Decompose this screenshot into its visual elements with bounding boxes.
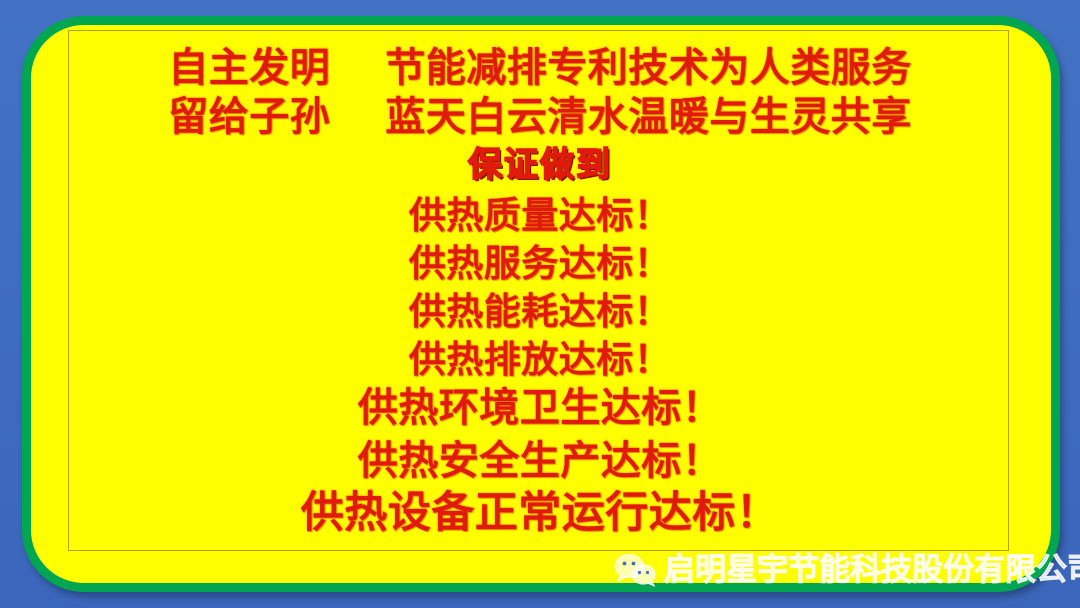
slide-content: 自主发明 节能减排专利技术为人类服务 留给子孙 蓝天白云清水温暖与生灵共享 保证… — [0, 0, 1080, 608]
headline-line-2: 留给子孙 蓝天白云清水温暖与生灵共享 — [0, 97, 1080, 137]
commitment-item-heating-service: 供热服务达标！ — [0, 245, 1080, 282]
headline-line-1: 自主发明 节能减排专利技术为人类服务 — [0, 48, 1080, 88]
commitment-item-environmental-sanitation: 供热环境卫生达标！ — [0, 388, 1080, 428]
commitment-item-safe-production: 供热安全生产达标！ — [0, 441, 1080, 481]
guarantee-heading: 保证做到 — [0, 148, 1080, 182]
commitment-item-equipment-operation: 供热设备正常运行达标！ — [0, 492, 1080, 535]
commitment-item-heating-quality: 供热质量达标！ — [0, 197, 1080, 234]
commitment-item-energy-consumption: 供热能耗达标！ — [0, 293, 1080, 330]
commitment-item-emissions: 供热排放达标！ — [0, 341, 1080, 378]
